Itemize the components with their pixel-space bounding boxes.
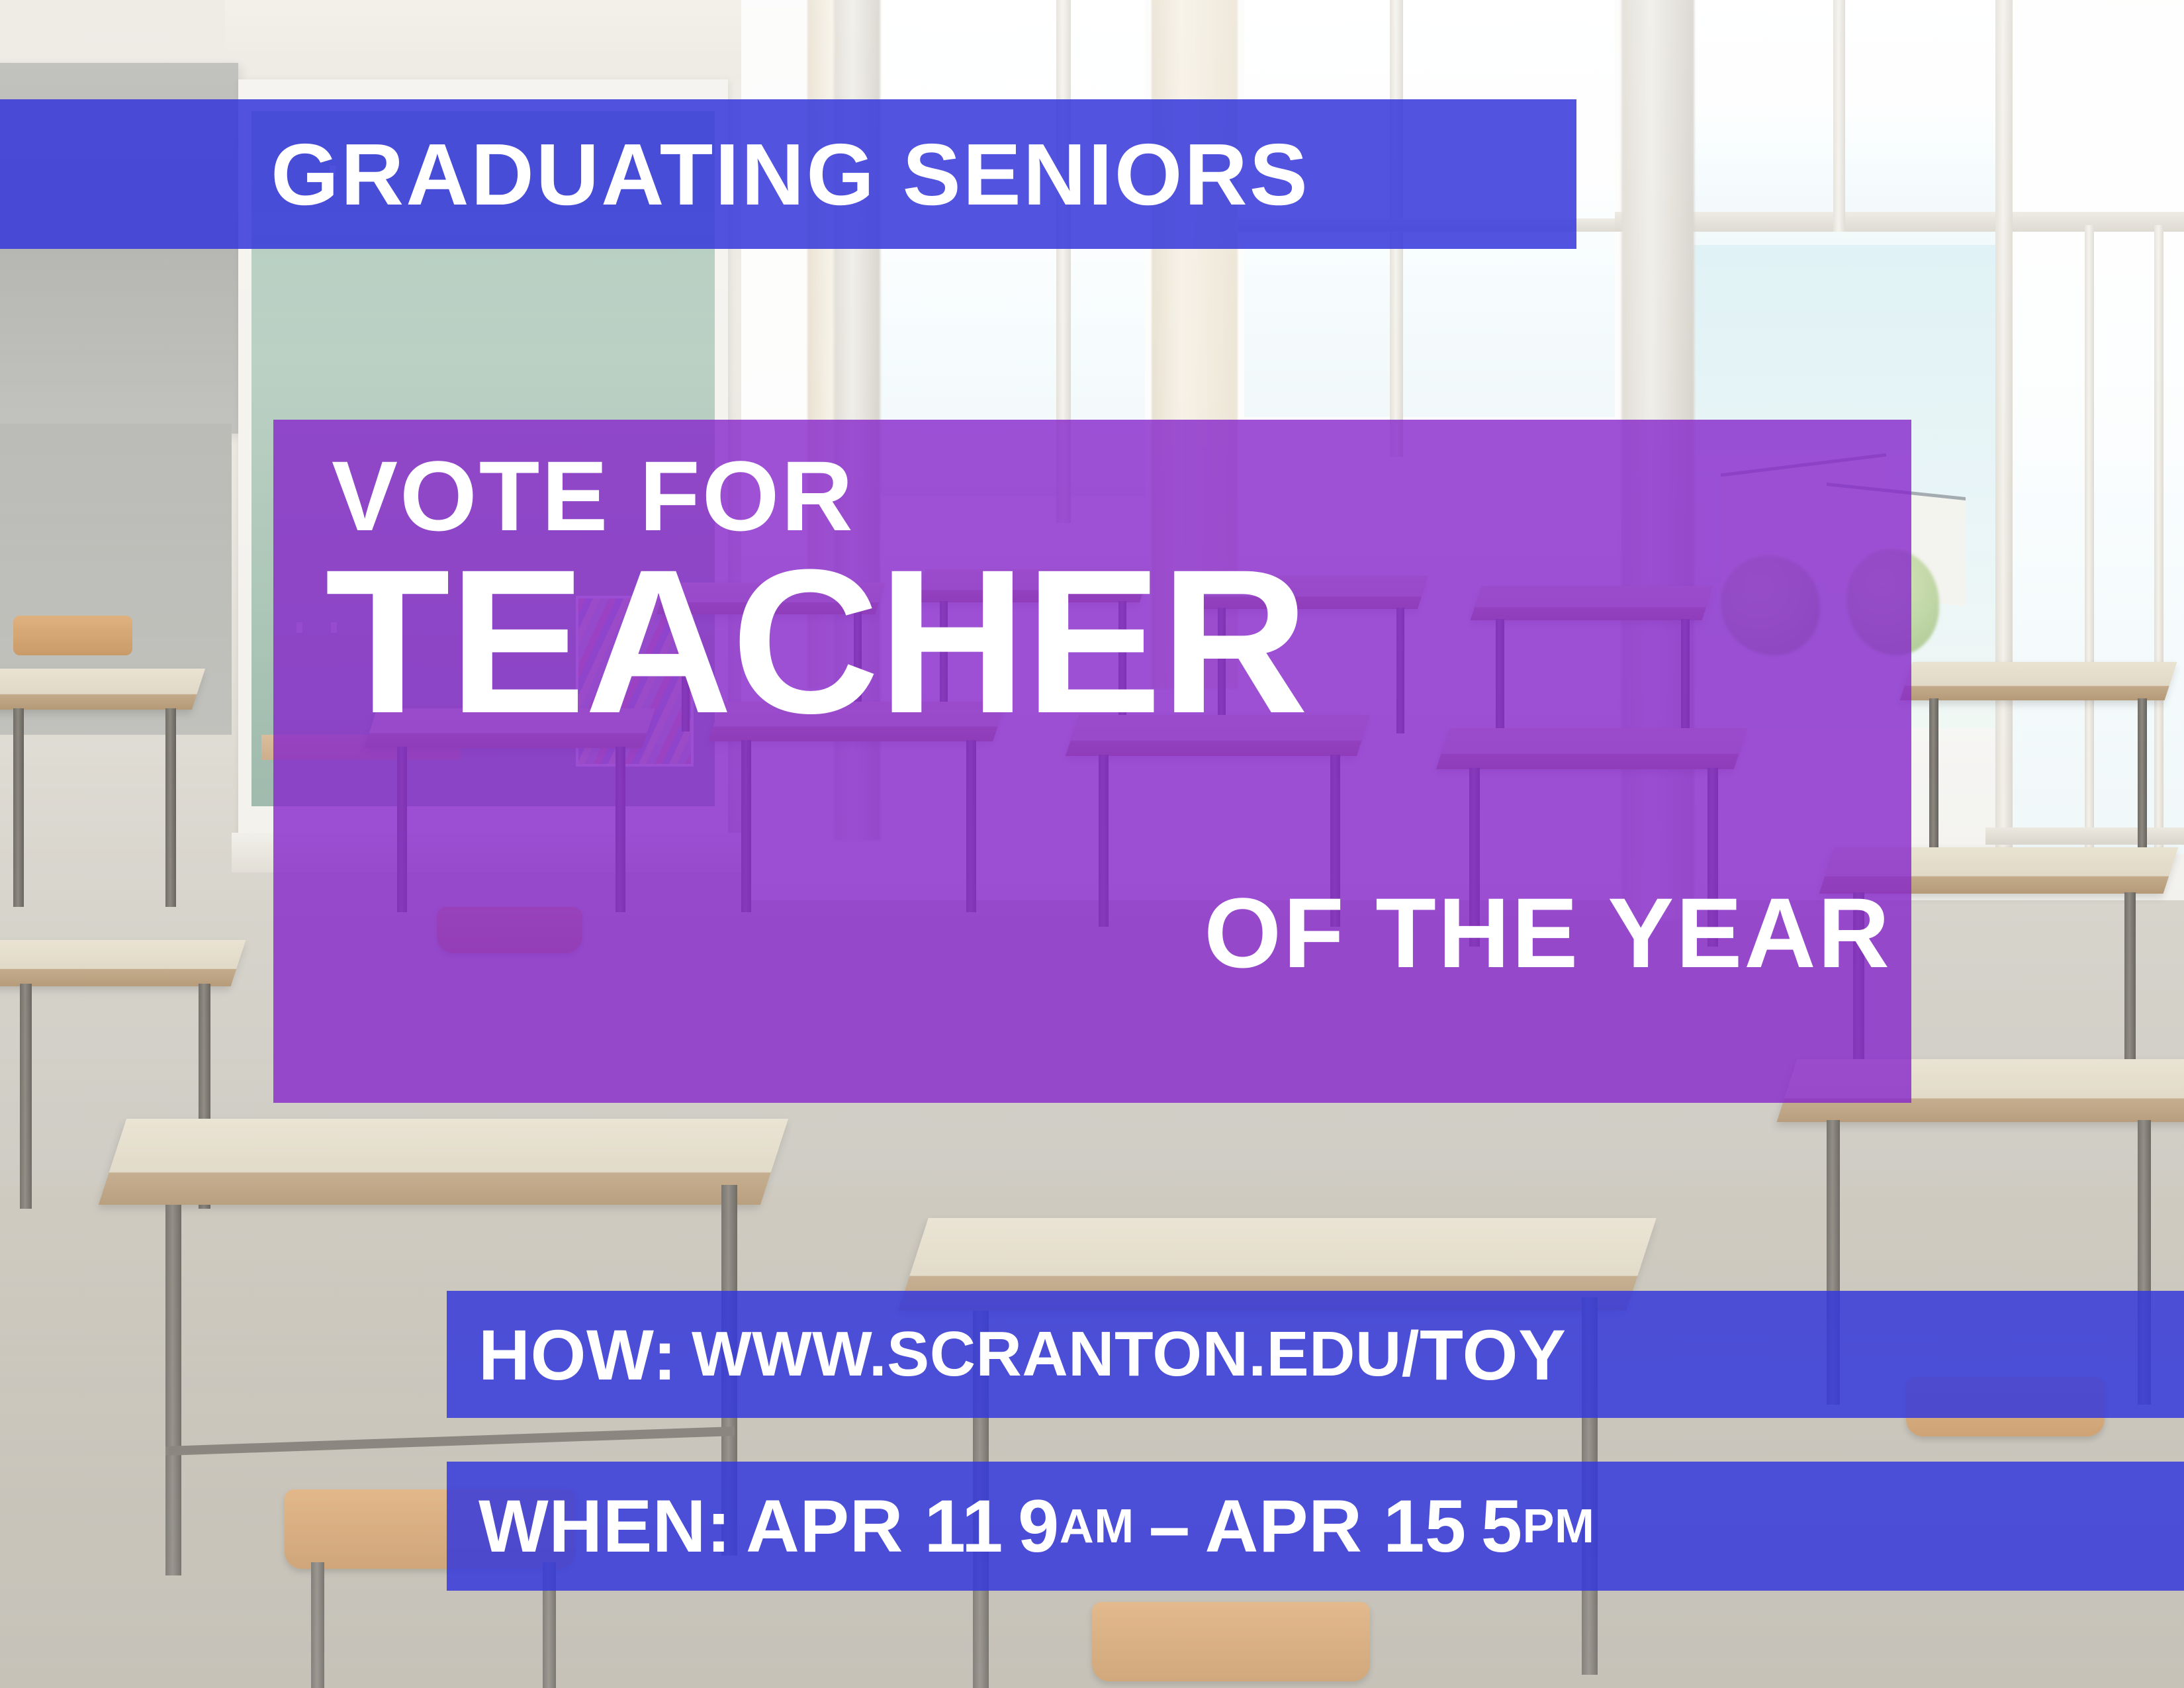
vote-url-main[interactable]: WWW.SCRANTON.EDU/ bbox=[692, 1318, 1420, 1391]
banner-graduating-seniors: GRADUATING SENIORS bbox=[0, 99, 1576, 249]
date-range-dash: – bbox=[1149, 1483, 1191, 1569]
how-label: HOW: bbox=[478, 1313, 677, 1396]
banner-top-text: GRADUATING SENIORS bbox=[267, 124, 1310, 224]
end-meridiem: PM bbox=[1523, 1499, 1595, 1554]
end-hour: 5 bbox=[1481, 1483, 1523, 1569]
start-date: APR 11 bbox=[746, 1483, 1003, 1569]
headline-line-teacher: TEACHER bbox=[325, 539, 1307, 744]
headline-line-of-the-year: OF THE YEAR bbox=[1204, 883, 1891, 982]
poster-canvas: GRADUATING SENIORS VOTE FOR TEACHER OF T… bbox=[0, 0, 2184, 1688]
vote-url-suffix[interactable]: TOY bbox=[1420, 1313, 1567, 1396]
end-date: APR 15 bbox=[1205, 1483, 1467, 1569]
headline-purple-panel: VOTE FOR TEACHER OF THE YEAR bbox=[273, 420, 1911, 1103]
banner-when-schedule: WHEN: APR 11 9AM – APR 15 5PM bbox=[447, 1462, 2184, 1591]
start-hour: 9 bbox=[1018, 1483, 1060, 1569]
when-label: WHEN: bbox=[478, 1483, 731, 1569]
banner-how-to-vote[interactable]: HOW: WWW.SCRANTON.EDU/TOY bbox=[447, 1291, 2184, 1418]
start-meridiem: AM bbox=[1060, 1499, 1134, 1554]
